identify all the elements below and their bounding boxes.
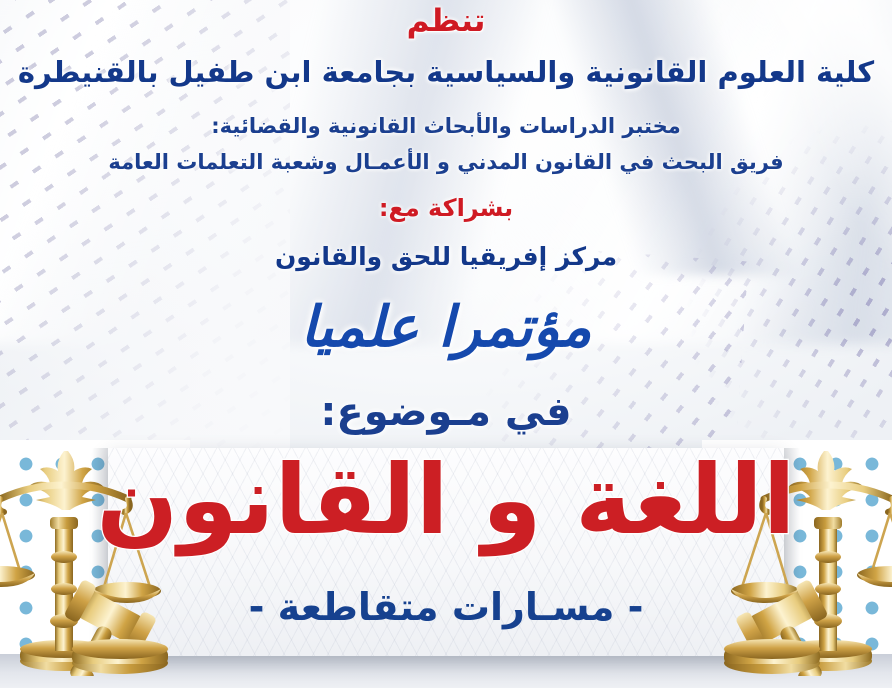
faculty-name: كلية العلوم القانونية والسياسية بجامعة ا… bbox=[0, 58, 892, 87]
event-type: مؤتمرا علميا bbox=[0, 300, 892, 356]
partner-name: مركز إفريقيا للحق والقانون bbox=[0, 244, 892, 269]
poster-text-content: تنظم كلية العلوم القانونية والسياسية بجا… bbox=[0, 0, 892, 688]
conference-poster: تنظم كلية العلوم القانونية والسياسية بجا… bbox=[0, 0, 892, 688]
laboratory-name: مختبر الدراسات والأبحاث القانونية والقضا… bbox=[0, 116, 892, 137]
partnership-label: بشراكة مع: bbox=[0, 196, 892, 220]
main-title: اللغة و القانون bbox=[0, 452, 892, 548]
organizer-label: تنظم bbox=[0, 6, 892, 37]
topic-label: في مـوضوع: bbox=[0, 392, 892, 432]
subtitle: - مسـارات متقاطعة - bbox=[0, 588, 892, 626]
research-team-name: فريق البحث في القانون المدني و الأعمـال … bbox=[0, 152, 892, 173]
